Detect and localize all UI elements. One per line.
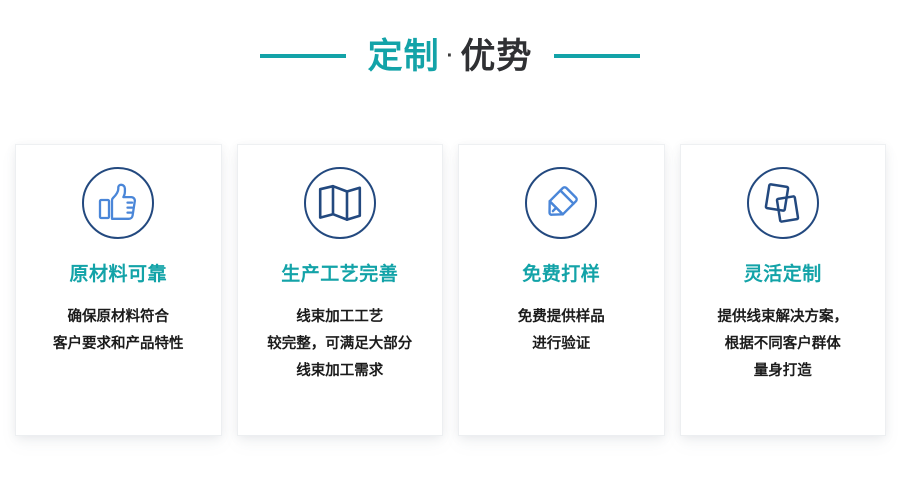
feature-card-body: 提供线束解决方案， 根据不同客户群体 量身打造 bbox=[688, 304, 878, 384]
feature-card-body: 线束加工工艺 较完整，可满足大部分 线束加工需求 bbox=[245, 304, 435, 384]
feature-card-body: 确保原材料符合 客户要求和产品特性 bbox=[23, 304, 213, 358]
feature-card-title: 原材料可靠 bbox=[69, 265, 167, 284]
folded-map-icon bbox=[304, 167, 376, 239]
feature-card-title: 生产工艺完善 bbox=[281, 265, 398, 284]
page-title-main: 定制 bbox=[368, 39, 440, 74]
stacked-cards-icon bbox=[747, 167, 819, 239]
feature-card-body-line: 客户要求和产品特性 bbox=[23, 331, 213, 358]
promo-section: 定制 · 优势 原材料可靠 确保原材料符合 客户要求和产品特性 bbox=[0, 0, 900, 499]
feature-card-body-line: 较完整，可满足大部分 bbox=[245, 331, 435, 358]
feature-card[interactable]: 原材料可靠 确保原材料符合 客户要求和产品特性 bbox=[16, 145, 221, 435]
feature-card-body-line: 量身打造 bbox=[688, 358, 878, 385]
page-title-separator: · bbox=[447, 45, 454, 68]
feature-card[interactable]: 免费打样 免费提供样品 进行验证 bbox=[459, 145, 664, 435]
feature-card-body-line: 提供线束解决方案， bbox=[688, 304, 878, 331]
feature-card-body-line: 进行验证 bbox=[466, 331, 656, 358]
feature-card[interactable]: 生产工艺完善 线束加工工艺 较完整，可满足大部分 线束加工需求 bbox=[238, 145, 443, 435]
feature-card-body: 免费提供样品 进行验证 bbox=[466, 304, 656, 358]
feature-card-body-line: 线束加工需求 bbox=[245, 358, 435, 385]
thumbs-up-icon bbox=[82, 167, 154, 239]
feature-card-title: 免费打样 bbox=[522, 265, 600, 284]
feature-card-body-line: 免费提供样品 bbox=[466, 304, 656, 331]
feature-card-body-line: 确保原材料符合 bbox=[23, 304, 213, 331]
page-title: 定制 · 优势 bbox=[368, 39, 533, 74]
feature-card-body-line: 根据不同客户群体 bbox=[688, 331, 878, 358]
section-header: 定制 · 优势 bbox=[0, 28, 900, 84]
header-rule-left bbox=[260, 54, 346, 58]
header-rule-right bbox=[554, 54, 640, 58]
feature-card-body-line: 线束加工工艺 bbox=[245, 304, 435, 331]
feature-card[interactable]: 灵活定制 提供线束解决方案， 根据不同客户群体 量身打造 bbox=[681, 145, 886, 435]
page-title-sub: 优势 bbox=[460, 39, 532, 74]
feature-card-title: 灵活定制 bbox=[744, 265, 822, 284]
feature-card-list: 原材料可靠 确保原材料符合 客户要求和产品特性 生产工艺完善 线束加工工艺 较完… bbox=[16, 145, 885, 437]
pencil-icon bbox=[525, 167, 597, 239]
